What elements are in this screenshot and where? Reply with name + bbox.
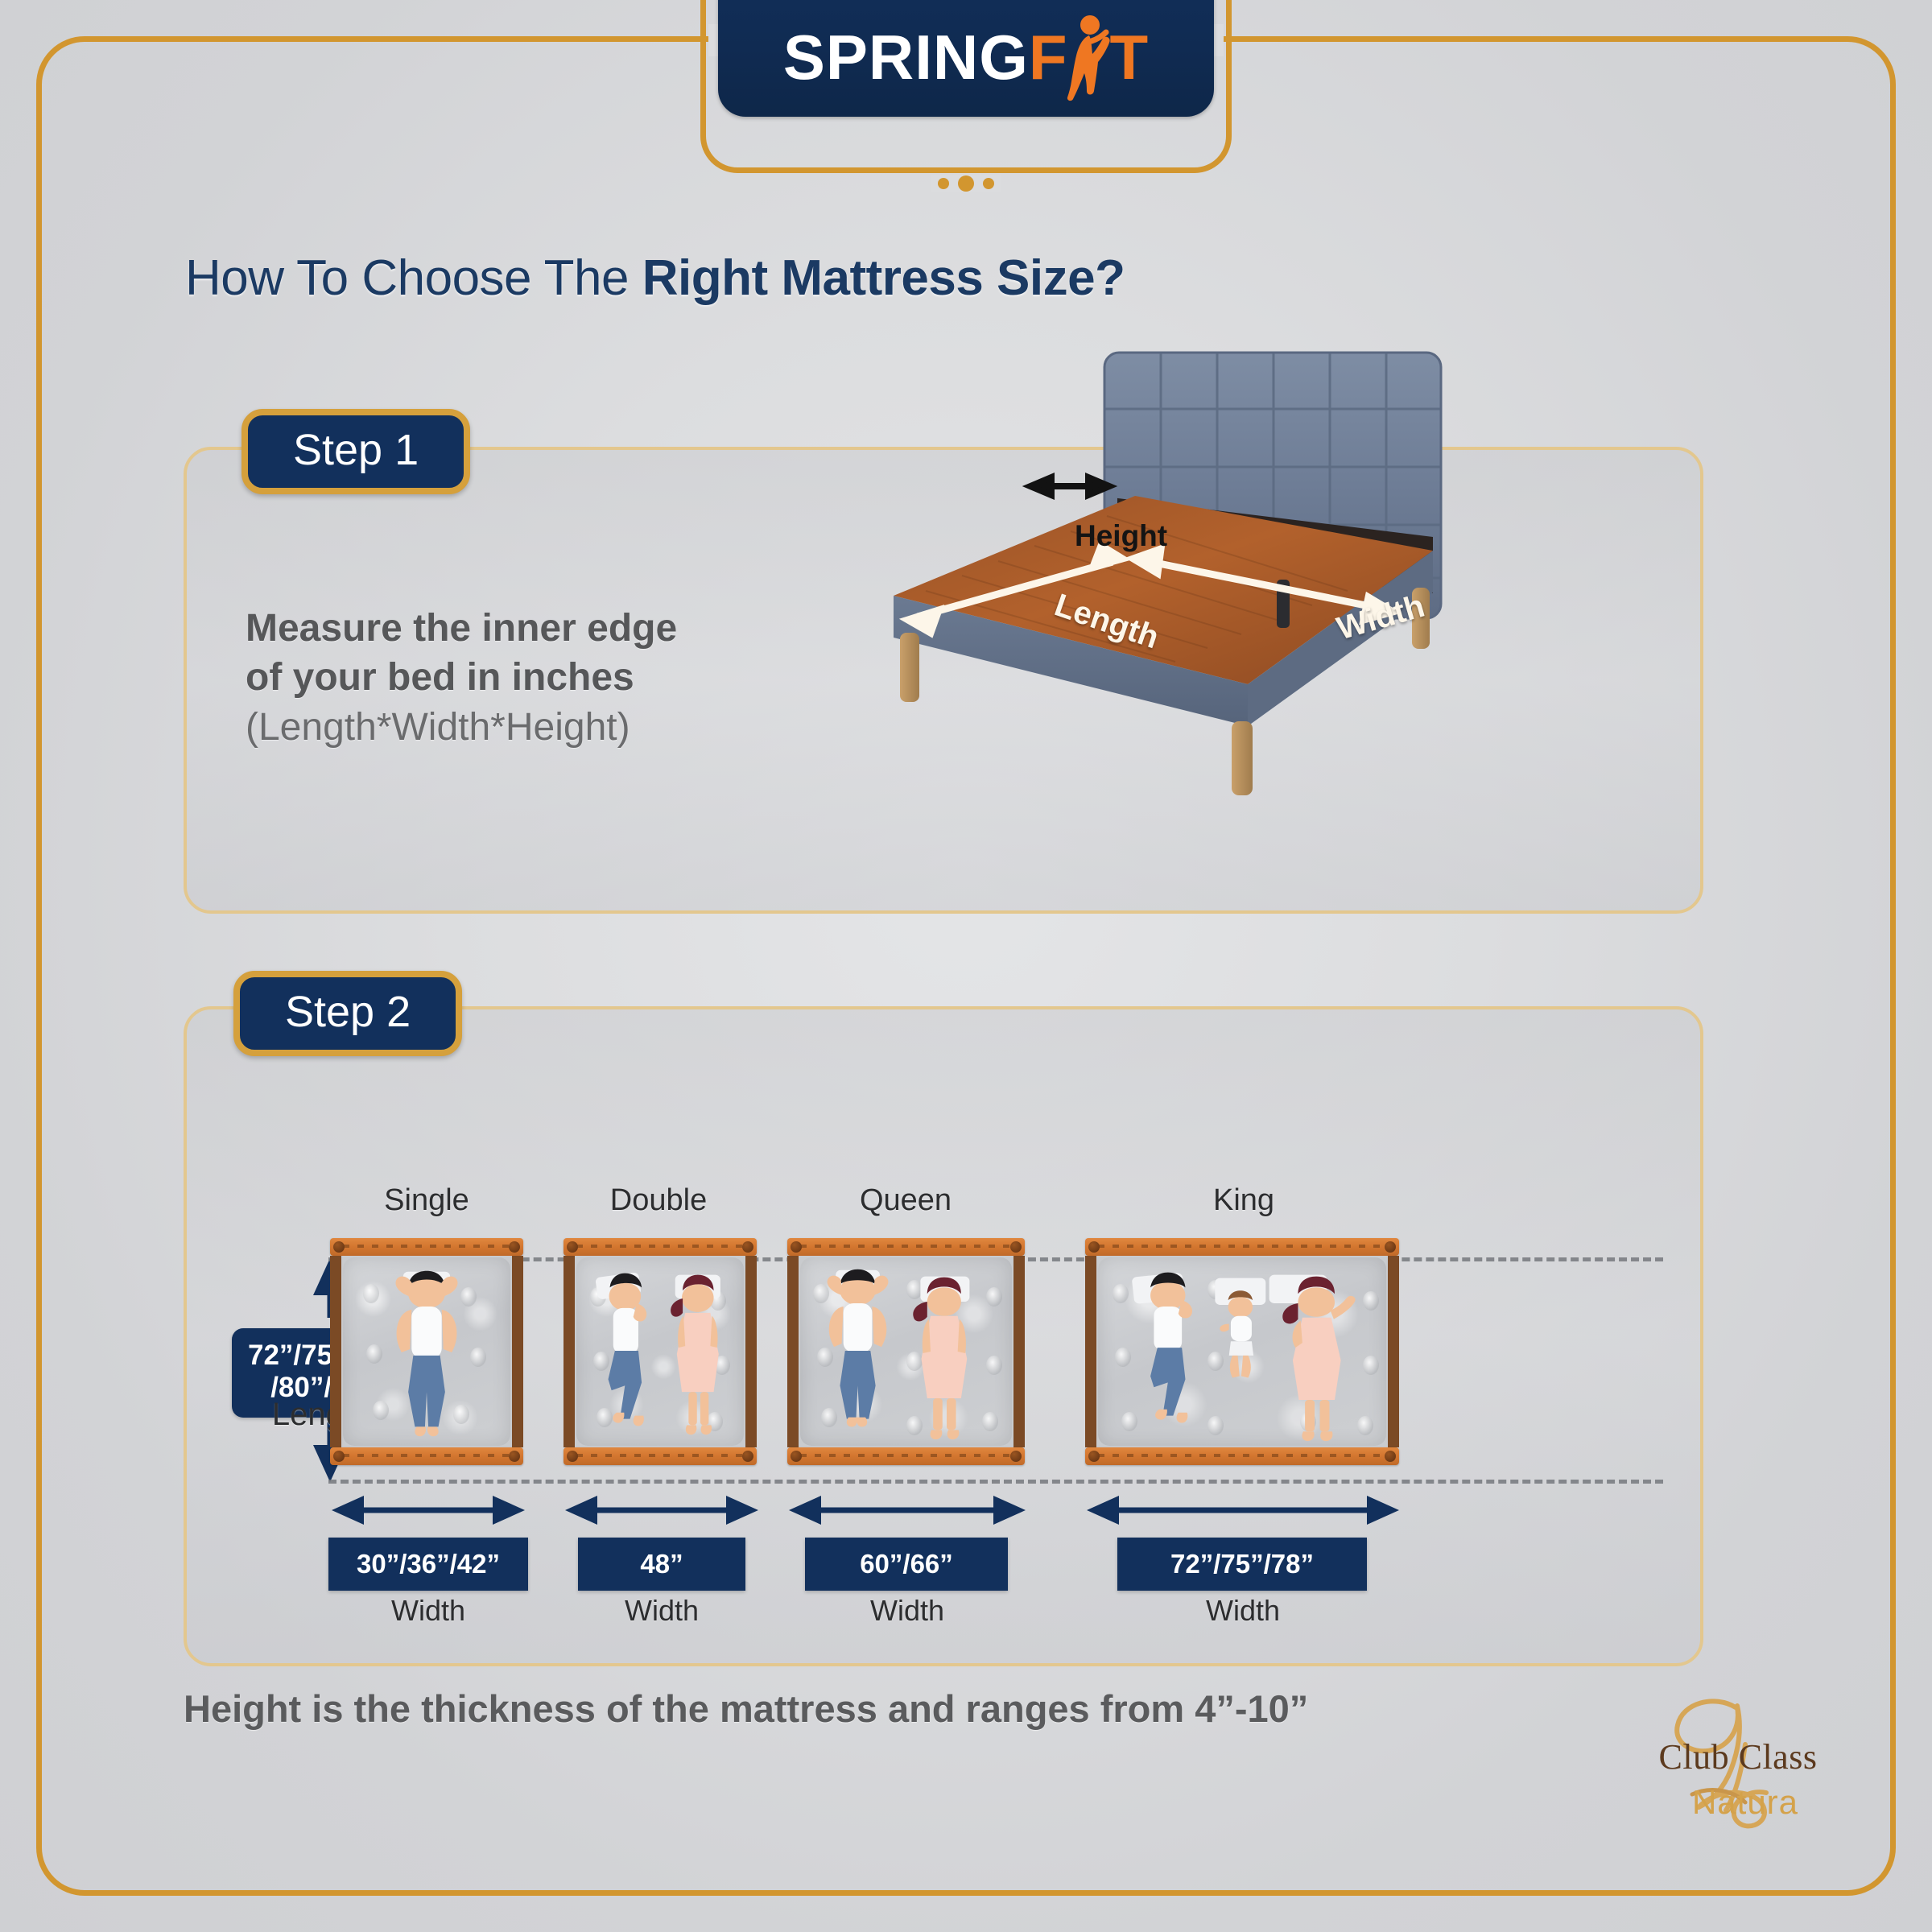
width-badge-king: 72”/75”/78” [1117,1538,1367,1591]
width-arrow-double [562,1488,762,1533]
width-label-queen: Width [786,1594,1029,1628]
mattress-single [330,1238,523,1465]
mattress-pad-single [343,1257,510,1446]
mattress-size-chart: Single [242,1183,1658,1634]
sleeper-figures-double [576,1257,744,1446]
mattress-double [563,1238,757,1465]
step1-badge: Step 1 [242,409,470,494]
bed-rail-bottom-king [1085,1447,1399,1465]
logo-text-t: T [1110,26,1150,89]
logo-text-f: F [1029,26,1068,89]
width-arrow-king [1084,1488,1402,1533]
page-title-light: How To Choose The [185,250,642,306]
width-arrow-single [328,1488,528,1533]
step1-line3: (Length*Width*Height) [246,703,677,752]
height-arrow [1030,477,1109,495]
header-logo-tab: SPRINGFT [700,0,1232,217]
page-title-bold: Right Mattress Size? [642,250,1125,306]
tab-dot-right [983,178,994,189]
width-badge-queen: 60”/66” [805,1538,1008,1591]
mattress-pad-double [576,1257,744,1446]
bed-leg-front-center [1232,721,1253,795]
page-title: How To Choose The Right Mattress Size? [185,250,1125,307]
step1-line1: Measure the inner edge [246,604,677,653]
bed-rail-top-king [1085,1238,1399,1256]
width-badge-double: 48” [578,1538,745,1591]
mattress-surface-queen [787,1256,1025,1447]
sleeper-figure-single [343,1257,510,1446]
bed-illustration [797,346,1699,926]
size-header-single: Single [330,1183,523,1218]
sleeper-figures-queen [800,1257,1012,1446]
springfit-logo: SPRINGFT [783,25,1149,89]
bed-rail-bottom-double [563,1447,757,1465]
step1-line2: of your bed in inches [246,653,677,702]
step1-instruction-text: Measure the inner edge of your bed in in… [246,604,677,752]
mattress-surface-king [1085,1256,1399,1447]
size-header-king: King [1095,1183,1393,1218]
width-label-single: Width [328,1594,528,1628]
club-class-natura-logo: Club Class Natura [1642,1686,1843,1847]
mattress-queen [787,1238,1025,1465]
bed-rail-top-queen [787,1238,1025,1256]
tab-decorative-dots [931,175,1001,192]
natura-wordmark: Natura [1658,1783,1832,1822]
tab-dot-left [938,178,949,189]
mattress-pad-queen [800,1257,1012,1446]
width-label-double: Width [562,1594,762,1628]
sleeper-figures-king [1098,1257,1386,1446]
bed-rail-bottom-queen [787,1447,1025,1465]
bed-label-height: Height [1075,519,1167,553]
bed-rail-top-single [330,1238,523,1256]
size-header-double: Double [570,1183,747,1218]
bed-rail-top-double [563,1238,757,1256]
width-arrow-queen [786,1488,1029,1533]
tab-dot-center [958,175,974,192]
club-class-wordmark: Club Class [1645,1736,1831,1777]
width-badge-single: 30”/36”/42” [328,1538,528,1591]
step2-badge: Step 2 [233,971,462,1056]
width-label-king: Width [1084,1594,1402,1628]
logo-text-spring: SPRING [783,26,1029,89]
mattress-king [1085,1238,1399,1465]
bed-leg-front-left [900,633,919,702]
bed-rail-bottom-single [330,1447,523,1465]
mattress-surface-single [330,1256,523,1447]
size-header-queen: Queen [793,1183,1018,1218]
mattress-pad-king [1098,1257,1386,1446]
mattress-surface-double [563,1256,757,1447]
jumping-figure-icon [1068,25,1110,89]
footer-height-note: Height is the thickness of the mattress … [184,1686,1308,1731]
logo-tab-plate: SPRINGFT [718,0,1214,117]
